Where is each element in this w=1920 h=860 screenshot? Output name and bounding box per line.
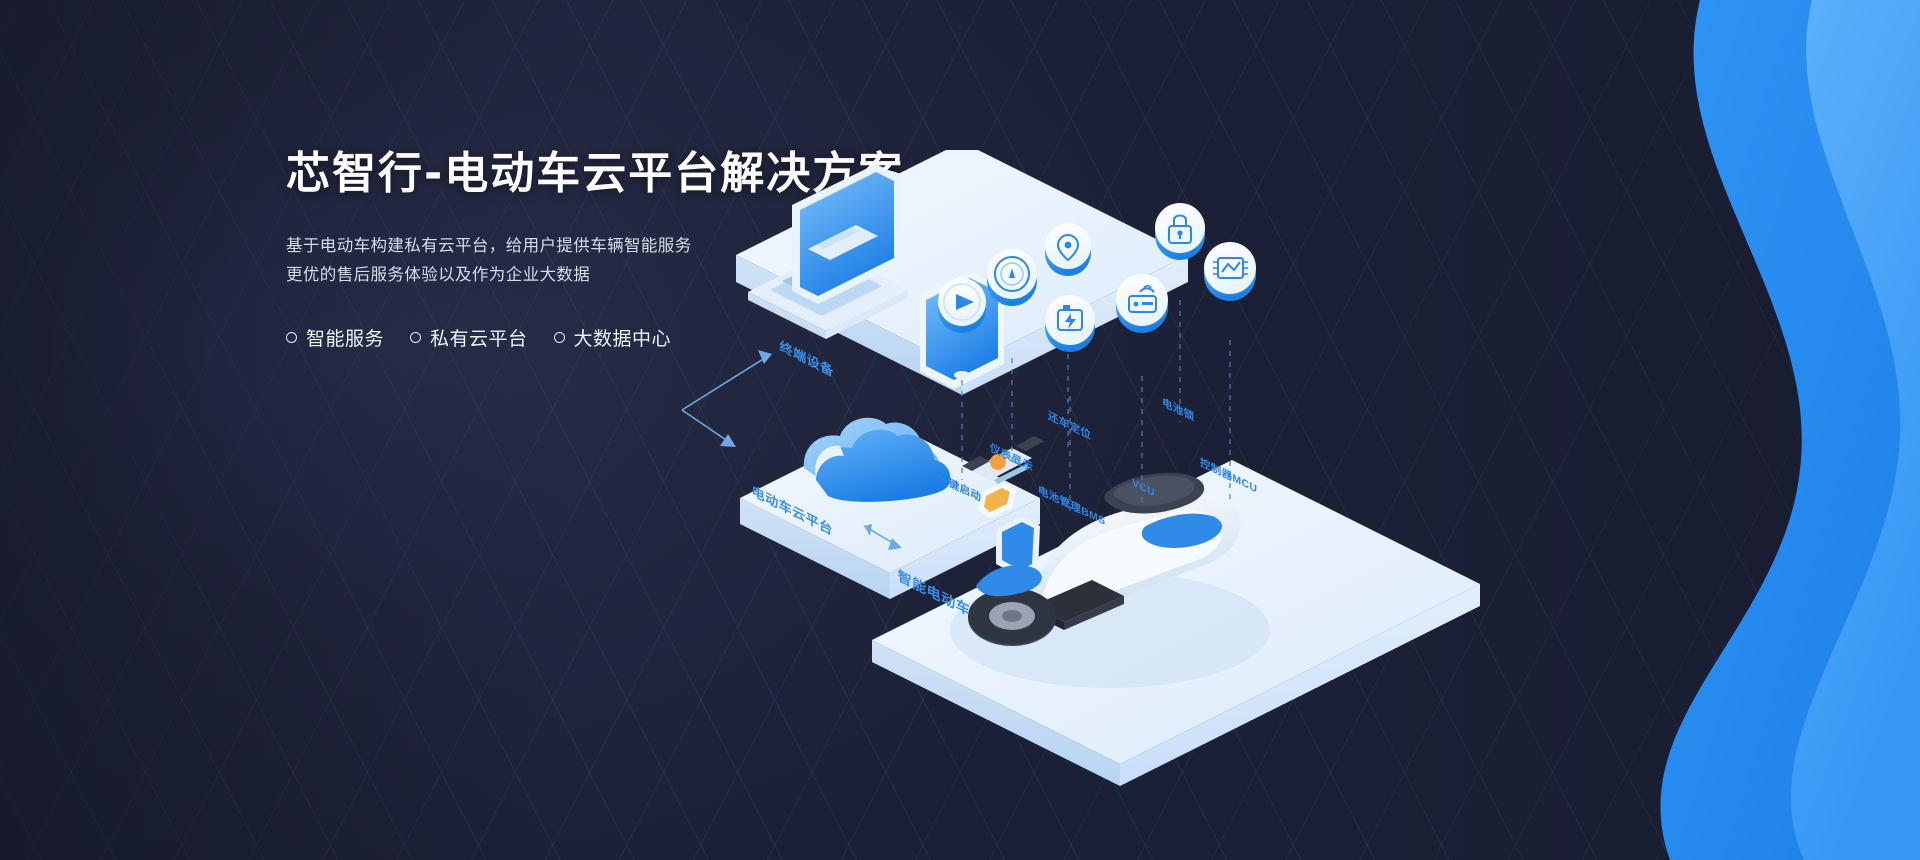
circle-outline-icon — [410, 332, 421, 343]
feature-badge-mcu[interactable] — [1204, 242, 1256, 301]
circle-outline-icon — [286, 332, 297, 343]
cloud-icon — [804, 418, 950, 502]
feature-badge-one-key-start[interactable] — [938, 278, 986, 333]
bullet-item-private-cloud[interactable]: 私有云平台 — [410, 324, 528, 351]
isometric-scene-svg — [640, 150, 1920, 860]
bullet-label: 私有云平台 — [430, 324, 528, 351]
arrow-terminal-to-cloud — [682, 350, 772, 447]
feature-badge-bms[interactable] — [1045, 295, 1095, 352]
isometric-illustration: 一键启动 仪表显示 还车定位 电池管理BMS VCU 电池锁 控制器MCU 终端… — [640, 150, 1920, 860]
banner-root: 芯智行-电动车云平台解决方案 基于电动车构建私有云平台，给用户提供车辆智能服务 … — [0, 0, 1920, 860]
bullet-item-smart-service[interactable]: 智能服务 — [286, 324, 384, 351]
feature-badge-return-location[interactable] — [1045, 223, 1091, 276]
front-wheel — [968, 588, 1056, 646]
bullet-label: 智能服务 — [306, 324, 384, 351]
circle-outline-icon — [554, 332, 565, 343]
feature-badge-vcu[interactable] — [1116, 274, 1168, 333]
feature-badge-dashboard[interactable] — [987, 249, 1037, 306]
feature-badge-battery-lock[interactable] — [1155, 203, 1205, 260]
